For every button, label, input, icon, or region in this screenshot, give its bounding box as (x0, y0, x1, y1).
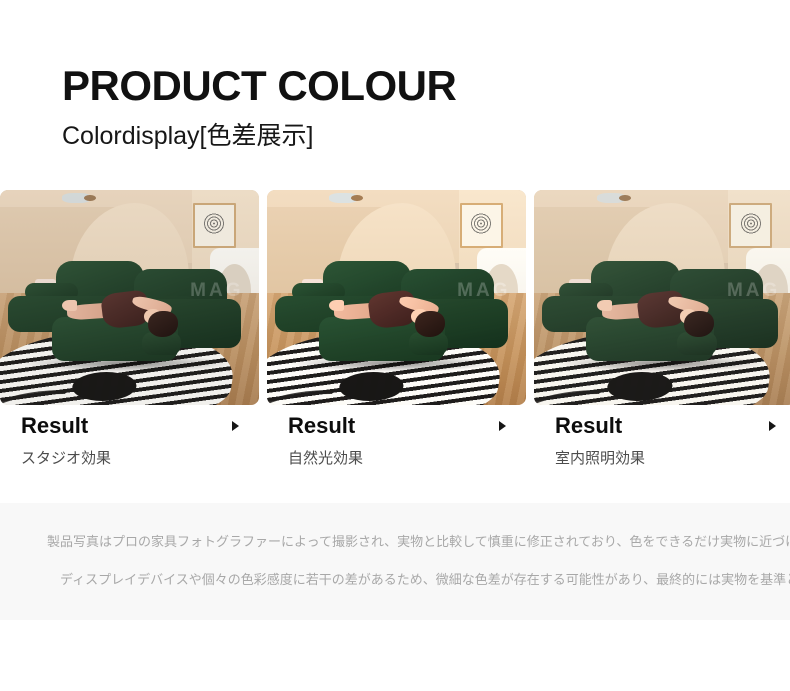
person-torso (100, 290, 150, 330)
page-title: PRODUCT COLOUR (62, 62, 762, 109)
colour-card-indoor-lighting[interactable]: MAG (534, 190, 790, 405)
colour-card-studio[interactable]: MAG (0, 190, 259, 405)
model-person (334, 285, 469, 341)
person-hair (148, 311, 178, 337)
caption-studio: Result スタジオ効果 (0, 412, 259, 468)
wall-art-frame (460, 203, 503, 248)
caption-row: Result (288, 412, 526, 440)
colour-captions: Result スタジオ効果 Result 自然光効果 Result 室内照明効果 (0, 412, 790, 468)
person-hair (415, 311, 445, 337)
colour-disclaimer: 製品写真はプロの家具フォトグラファーによって撮影され、実物と比較して慎重に修正さ… (0, 503, 790, 620)
rug-arc-pattern (534, 390, 601, 405)
person-feet (329, 300, 344, 311)
ceiling-light-icon (329, 193, 357, 203)
caption-effect-label: 室内照明効果 (555, 449, 790, 469)
triangle-right-icon[interactable] (232, 421, 239, 431)
model-person (602, 285, 738, 341)
rug-arc-pattern (267, 390, 333, 405)
colour-gallery: MAG (0, 190, 790, 405)
sofa-photo-studio: MAG (0, 190, 259, 405)
product-colour-section: PRODUCT COLOUR Colordisplay[色差展示] (0, 0, 790, 691)
person-feet (597, 300, 612, 311)
caption-natural-light: Result 自然光効果 (267, 412, 526, 468)
wall-art-frame (729, 203, 772, 248)
caption-title: Result (288, 412, 355, 440)
rug-arc-pattern (0, 390, 66, 405)
wall-art-frame (193, 203, 236, 248)
caption-effect-label: 自然光効果 (288, 449, 526, 469)
caption-title: Result (21, 412, 88, 440)
triangle-right-icon[interactable] (499, 421, 506, 431)
colour-card-natural-light[interactable]: MAG (267, 190, 526, 405)
caption-row: Result (555, 412, 790, 440)
ceiling-light-icon (62, 193, 90, 203)
person-torso (636, 290, 686, 330)
triangle-right-icon[interactable] (769, 421, 776, 431)
page-subtitle: Colordisplay[色差展示] (62, 121, 762, 151)
caption-indoor-lighting: Result 室内照明効果 (534, 412, 790, 468)
section-header: PRODUCT COLOUR Colordisplay[色差展示] (62, 62, 762, 151)
disclaimer-line-2: ディスプレイデバイスや個々の色彩感度に若干の差があるため、微細な色差が存在する可… (60, 571, 790, 589)
model-person (67, 285, 202, 341)
sofa-photo-natural-light: MAG (267, 190, 526, 405)
caption-row: Result (21, 412, 259, 440)
caption-effect-label: スタジオ効果 (21, 449, 259, 469)
person-feet (62, 300, 77, 311)
person-torso (367, 290, 417, 330)
disclaimer-line-1: 製品写真はプロの家具フォトグラファーによって撮影され、実物と比較して慎重に修正さ… (47, 533, 790, 551)
caption-title: Result (555, 412, 622, 440)
person-hair (684, 311, 714, 337)
sofa-photo-indoor-lighting: MAG (534, 190, 790, 405)
ceiling-light-icon (597, 193, 626, 203)
